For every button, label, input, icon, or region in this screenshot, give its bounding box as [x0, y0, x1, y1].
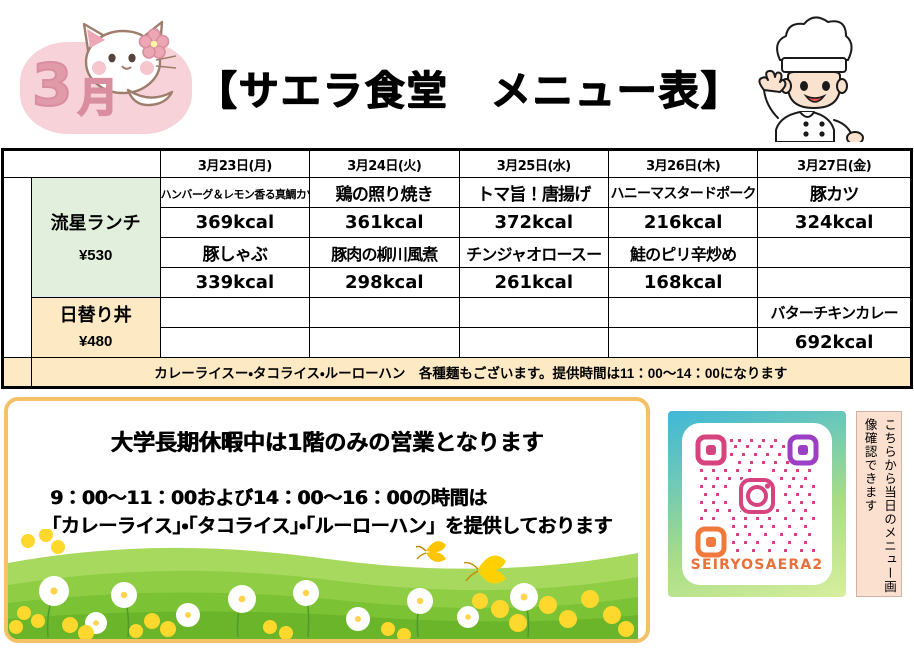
kcal-cell — [608, 328, 757, 358]
kcal-cell: 372kcal — [459, 208, 608, 238]
dish-cell — [459, 298, 608, 328]
dish-cell: 鮭のピリ辛炒め — [608, 238, 757, 268]
dish-text: バターチキンカレー — [771, 302, 898, 323]
announcement-line-2: 9：00～11：00および14：00～16：00の時間は — [50, 483, 487, 510]
table-header-row: 3月23日(月) 3月24日(火) 3月25日(水) 3月26日(木) 3月27… — [3, 150, 912, 178]
dish-text: 豚カツ — [810, 180, 859, 205]
date-header-wed: 3月25日(水) — [459, 150, 608, 178]
group-name-don: 日替り丼 — [32, 301, 160, 330]
dish-cell: チンジャオロースー — [459, 238, 608, 268]
announcement-line-1: 大学長期休暇中は1階のみの営業となります — [8, 425, 646, 457]
table-row: 日替り丼 ¥480 バターチキンカレー — [3, 298, 912, 328]
kcal-cell — [758, 268, 912, 298]
kcal-cell: 324kcal — [758, 208, 912, 238]
dish-text: 豚しゃぶ — [202, 240, 267, 265]
kcal-cell — [459, 328, 608, 358]
dish-cell: 豚しゃぶ — [160, 238, 309, 268]
dish-text: ハンバーグ＆レモン香る真鯛カツ — [161, 189, 310, 201]
dish-cell — [608, 298, 757, 328]
month-number: 3 — [32, 56, 72, 114]
dish-cell: トマ旨！唐揚げ — [459, 178, 608, 208]
dish-cell: ハンバーグ＆レモン香る真鯛カツ — [160, 178, 309, 208]
group-name-lunch: 流星ランチ — [32, 205, 160, 241]
date-header-thu: 3月26日(木) — [608, 150, 757, 178]
dish-text: トマ旨！唐揚げ — [477, 180, 590, 205]
bottom-section: 大学長期休暇中は1階のみの営業となります 9：00～11：00および14：00～… — [0, 389, 914, 669]
group-price-don: ¥480 — [32, 330, 160, 354]
group-label-lunch: 流星ランチ ¥530 — [31, 178, 160, 298]
left-spacer-cell — [3, 178, 32, 358]
dish-text: 鮭のピリ辛炒め — [630, 241, 736, 265]
qr-card[interactable]: SEIRYOSAERA2 — [682, 423, 832, 585]
kcal-cell — [310, 328, 459, 358]
qr-vertical-note: こちらから当日のメニュー画像確認できます — [856, 411, 902, 597]
menu-note-text: カレーライスー・タコライス・ルーローハン 各種麺もございます。提供時間は11：0… — [31, 358, 911, 388]
kcal-cell: 168kcal — [608, 268, 757, 298]
dish-cell: 豚カツ — [758, 178, 912, 208]
dish-cell: バターチキンカレー — [758, 298, 912, 328]
page-header: 3 月 【サエラ食堂 メニュー表】 — [0, 0, 914, 148]
kcal-cell: 298kcal — [310, 268, 459, 298]
dish-text: 鶏の照り焼き — [336, 180, 433, 205]
instagram-handle: SEIRYOSAERA2 — [682, 557, 832, 573]
dish-cell — [160, 298, 309, 328]
instagram-qr-panel[interactable]: SEIRYOSAERA2 — [668, 411, 846, 597]
group-label-don: 日替り丼 ¥480 — [31, 298, 160, 358]
table-row: 流星ランチ ¥530 ハンバーグ＆レモン香る真鯛カツ 鶏の照り焼き トマ旨！唐揚… — [3, 178, 912, 208]
kcal-cell: 261kcal — [459, 268, 608, 298]
month-unit: 月 — [78, 78, 118, 118]
spring-meadow-illustration — [8, 529, 638, 639]
dish-cell — [758, 238, 912, 268]
qr-code-icon[interactable] — [694, 433, 820, 559]
table-note-row: カレーライスー・タコライス・ルーローハン 各種麺もございます。提供時間は11：0… — [3, 358, 912, 388]
menu-table: 3月23日(月) 3月24日(火) 3月25日(水) 3月26日(木) 3月27… — [1, 148, 913, 389]
kcal-cell: 361kcal — [310, 208, 459, 238]
kcal-cell — [160, 328, 309, 358]
page-title: 【サエラ食堂 メニュー表】 — [196, 58, 742, 116]
chef-illustration-icon — [742, 14, 868, 142]
date-header-tue: 3月24日(火) — [310, 150, 459, 178]
note-spacer-cell — [3, 358, 32, 388]
kcal-cell: 369kcal — [160, 208, 309, 238]
date-header-mon: 3月23日(月) — [160, 150, 309, 178]
group-price-lunch: ¥530 — [32, 241, 160, 271]
announcement-box: 大学長期休暇中は1階のみの営業となります 9：00～11：00および14：00～… — [4, 397, 650, 643]
month-badge: 3 月 — [16, 16, 198, 136]
dish-cell: 豚肉の柳川風煮 — [310, 238, 459, 268]
dish-cell — [310, 298, 459, 328]
date-header-fri: 3月27日(金) — [758, 150, 912, 178]
dish-text: 豚肉の柳川風煮 — [331, 241, 437, 265]
dish-cell: ハニーマスタードポーク — [608, 178, 757, 208]
announcement-line-3: 「カレーライス」・「タコライス」・「ルーローハン」を提供しております — [42, 511, 612, 538]
dish-text: ハニーマスタードポーク — [611, 183, 756, 203]
dish-cell: 鶏の照り焼き — [310, 178, 459, 208]
kcal-cell: 692kcal — [758, 328, 912, 358]
instagram-icon — [738, 477, 776, 515]
kcal-cell: 339kcal — [160, 268, 309, 298]
header-blank-cell — [3, 150, 161, 178]
kcal-cell: 216kcal — [608, 208, 757, 238]
dish-text: チンジャオロースー — [466, 241, 601, 265]
